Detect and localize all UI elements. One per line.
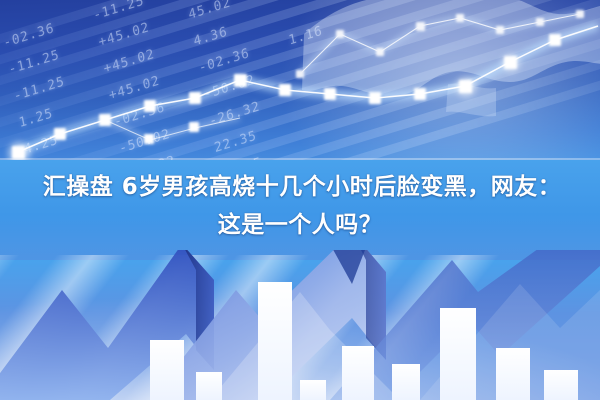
headline-line-1: 汇操盘 6岁男孩高烧十几个小时后脸变黑，网友： <box>39 168 562 206</box>
headline-block: 汇操盘 6岁男孩高烧十几个小时后脸变黑，网友： 这是一个人吗？ <box>0 163 600 258</box>
bar-chart <box>0 250 600 400</box>
band-divider <box>0 158 600 160</box>
headline-line-2: 这是一个人吗？ <box>218 206 383 244</box>
table-row <box>150 282 578 400</box>
news-banner-image: -50.02 -02.36 -11.25 21.16 -08.36 -11.25… <box>0 0 600 400</box>
glow-line-chart <box>0 0 600 175</box>
square-node-icon <box>12 34 561 159</box>
glow-line-primary <box>8 26 598 164</box>
